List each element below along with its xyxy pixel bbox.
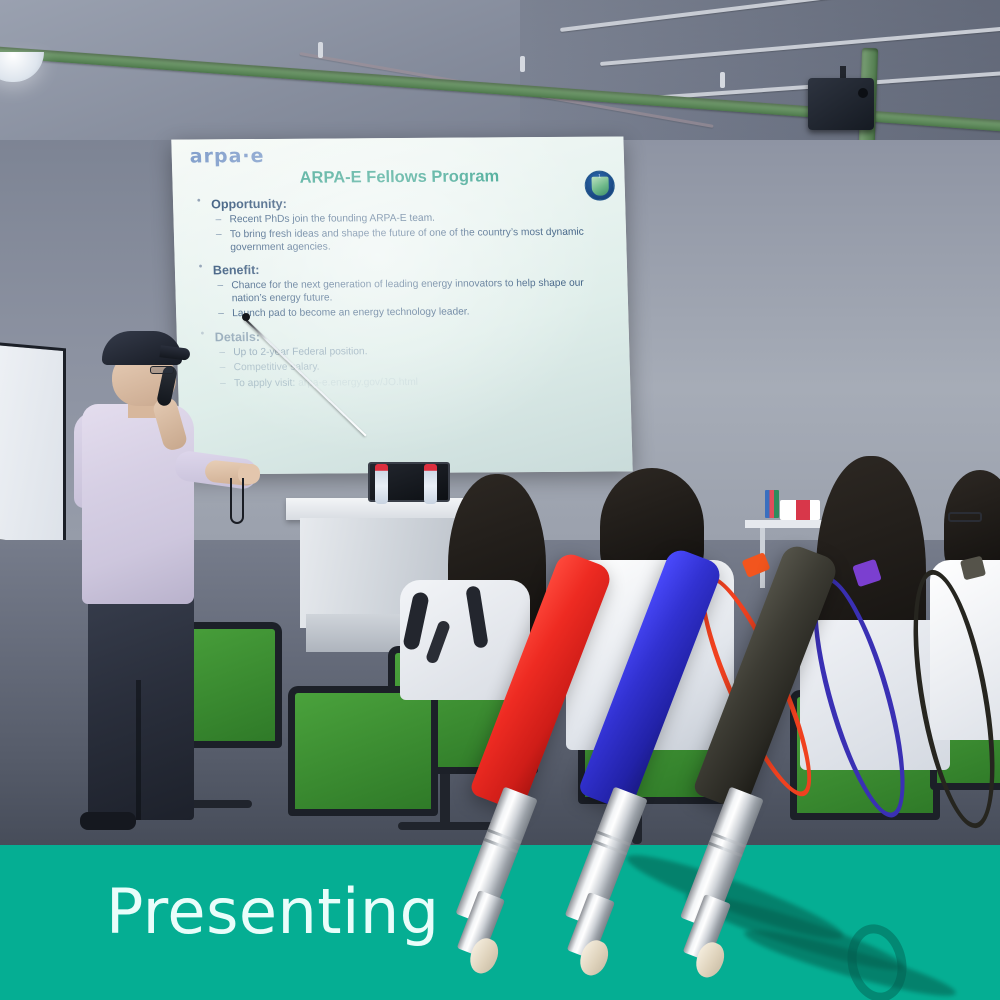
screen-glare	[171, 136, 632, 474]
pipe-hanger	[520, 56, 525, 72]
water-bottle	[375, 464, 388, 504]
ceiling-speaker	[808, 78, 874, 130]
presenter-shoe	[80, 812, 136, 830]
pointer-wrist-strap	[230, 478, 244, 524]
water-bottle	[424, 464, 437, 504]
desk-box	[780, 500, 820, 520]
projection-screen: arpa·e ARPA-E Fellows Program 1 Opportun…	[171, 136, 632, 474]
presenter-trousers	[88, 590, 194, 820]
ceiling-shadow	[520, 0, 1000, 150]
banner-title: Presenting	[106, 881, 440, 943]
chair-post	[440, 770, 450, 830]
presenter-glasses	[150, 366, 174, 374]
flipchart-board	[0, 342, 66, 549]
product-lifestyle-image: arpa·e ARPA-E Fellows Program 1 Opportun…	[0, 0, 1000, 1000]
presenter-leg-gap	[136, 680, 141, 820]
pointer-tip	[242, 313, 250, 321]
pipe-hanger	[720, 72, 725, 88]
pen-holder	[765, 490, 779, 518]
audience-chair	[288, 686, 438, 816]
pipe-hanger	[318, 42, 323, 58]
audience-glasses	[948, 512, 982, 522]
